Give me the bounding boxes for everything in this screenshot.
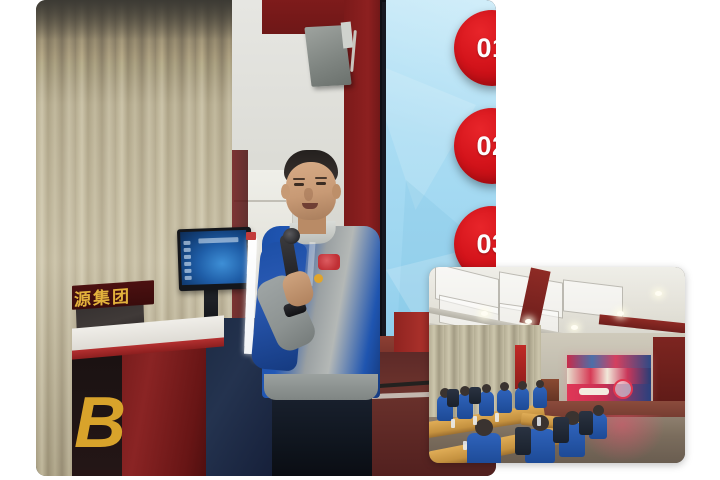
water-bottle (451, 419, 455, 428)
water-bottle (537, 417, 541, 426)
control-monitor-screen (180, 230, 248, 285)
water-bottle (473, 416, 477, 425)
led-video-wall (567, 355, 651, 403)
chair (447, 389, 459, 407)
chair (515, 427, 531, 455)
presenter-chest-badge (318, 254, 340, 270)
attendee-head (475, 419, 493, 436)
water-bottle (463, 441, 467, 450)
led-row-middle (567, 368, 651, 385)
attendee-head (518, 381, 527, 390)
attendee-head (482, 384, 491, 393)
presenter-shirt-hem (264, 374, 378, 400)
presenter-lapel-pin (314, 274, 323, 283)
attendee (515, 387, 529, 410)
desktop-window-titlebar (198, 237, 238, 243)
presenter-eye-right (316, 182, 326, 185)
attendee (497, 389, 512, 413)
attendee (467, 433, 501, 463)
chair (553, 417, 569, 443)
led-row-top (567, 355, 651, 369)
presenter-trousers (272, 388, 372, 476)
main-photo: 01 02 03 (36, 0, 496, 476)
downlight-icon (481, 311, 488, 316)
attendee-head (593, 405, 604, 416)
desktop-icons (180, 238, 196, 282)
presenter-ear-right (332, 184, 341, 199)
slide-bullet-02-label: 02 (476, 131, 496, 162)
water-bottle (495, 413, 499, 422)
presenter-eye-left (294, 183, 304, 186)
presenter-ear-left (281, 184, 290, 199)
downlight-icon (617, 311, 624, 316)
podium-sign-text: 源集团 (72, 281, 131, 310)
chair (579, 411, 593, 435)
curtain-top-shadow (36, 0, 236, 40)
inset-wall-red (653, 337, 685, 409)
slide-bullet-03-label: 03 (476, 229, 496, 260)
attendee (479, 391, 494, 416)
presenter-figure (250, 150, 390, 476)
downlight-icon (571, 325, 578, 330)
attendee-head (500, 382, 509, 391)
downlight-icon (655, 291, 662, 296)
presenter-brow-right (315, 177, 327, 179)
chair (469, 387, 481, 404)
led-caption-pill (579, 388, 609, 395)
collage-canvas: 01 02 03 (0, 0, 720, 480)
inset-photo (429, 267, 685, 463)
attendee-head (536, 380, 544, 388)
slide-bullet-01-label: 01 (476, 33, 496, 64)
presenter-brow-left (293, 178, 305, 180)
downlight-icon (525, 319, 532, 324)
attendee (533, 386, 547, 408)
led-circle-badge (613, 379, 633, 399)
presenter-nose (304, 188, 313, 201)
podium-logo: B (74, 384, 136, 464)
